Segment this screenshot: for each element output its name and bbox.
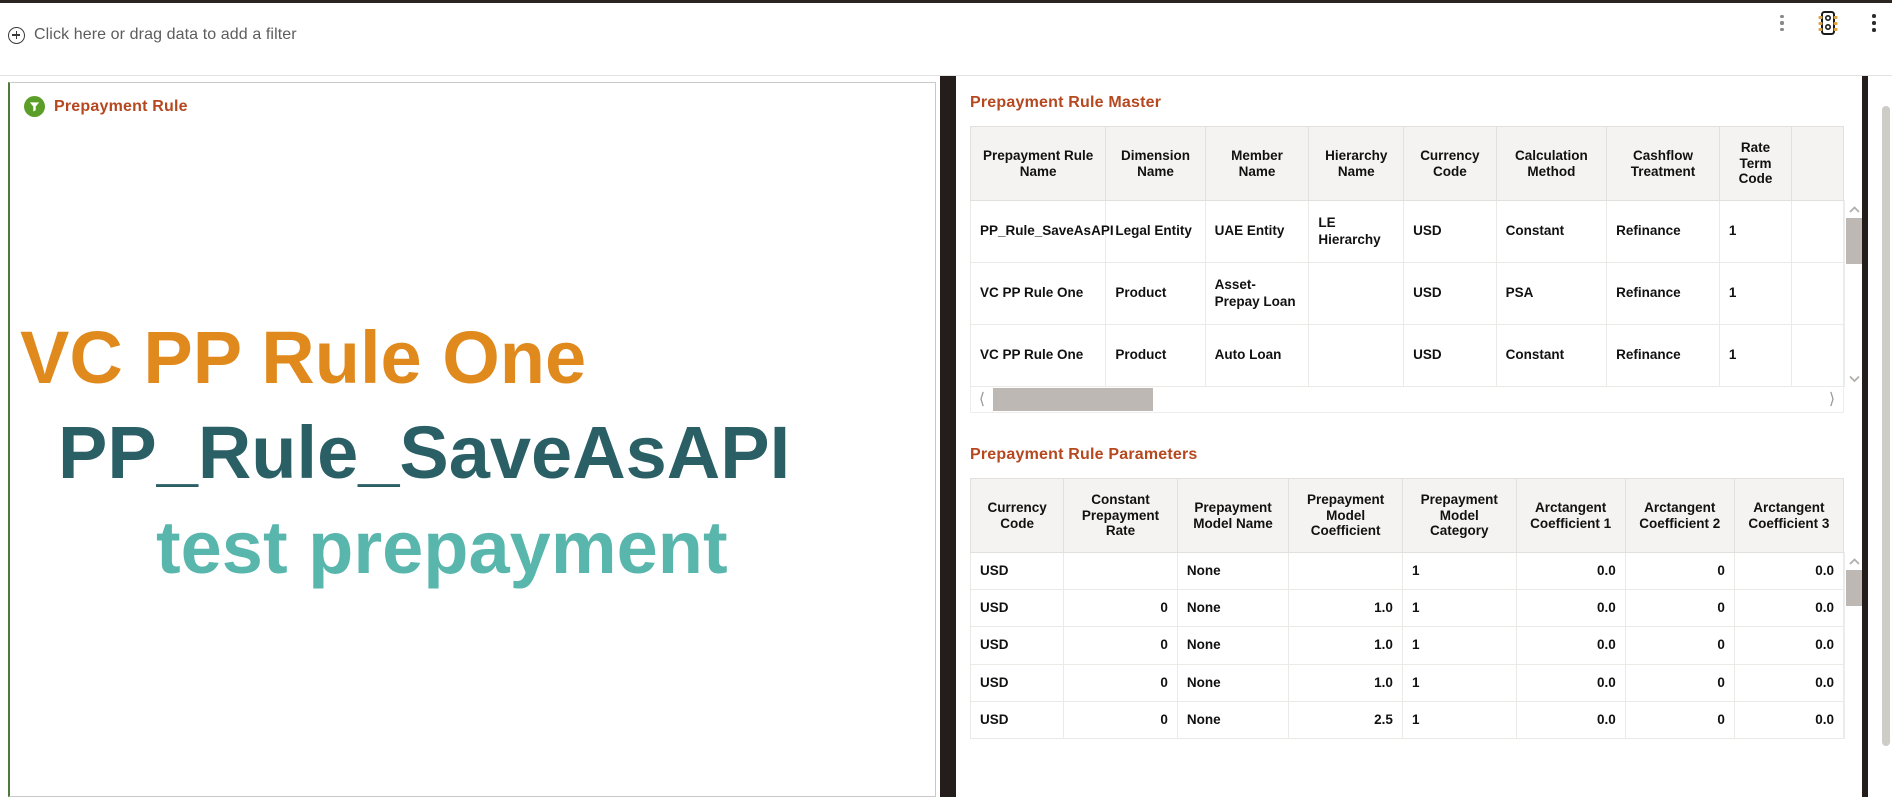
prepayment-rule-parameters-grid[interactable]: Currency Code Constant Prepayment Rate P… — [970, 478, 1844, 739]
cell-prepayment-model-coefficient: 2.5 — [1289, 701, 1403, 738]
cell-hierarchy-name — [1309, 263, 1404, 325]
params-vertical-scrollbar[interactable] — [1844, 552, 1862, 739]
table-row[interactable]: USD 0 None 1.0 1 0.0 0 0.0 — [971, 590, 1844, 627]
cell-prepayment-rule-name: VC PP Rule One — [971, 263, 1106, 325]
column-header-calculation-method[interactable]: Calculation Method — [1496, 127, 1607, 201]
scroll-thumb[interactable] — [1846, 570, 1862, 606]
table-header-row: Currency Code Constant Prepayment Rate P… — [971, 479, 1844, 553]
cell-dimension-name: Legal Entity — [1106, 201, 1205, 263]
page-scrollbar[interactable] — [1880, 76, 1892, 797]
cell-member-name: UAE Entity — [1205, 201, 1309, 263]
cell-constant-prepayment-rate: 0 — [1064, 627, 1178, 664]
cell-prepayment-model-category: 1 — [1402, 627, 1516, 664]
master-vertical-scrollbar[interactable] — [1844, 200, 1862, 387]
cell-prepayment-model-category: 1 — [1402, 664, 1516, 701]
cell-dimension-name: Product — [1106, 325, 1205, 387]
cell-rate-term-code: 1 — [1719, 201, 1791, 263]
column-header-spacer — [1792, 127, 1844, 201]
page-options-icon[interactable] — [1866, 12, 1882, 34]
cell-currency-code: USD — [971, 553, 1064, 590]
cell-arctangent-coefficient-2: 0 — [1625, 664, 1734, 701]
cell-calculation-method: Constant — [1496, 325, 1607, 387]
cell-cashflow-treatment: Refinance — [1607, 263, 1720, 325]
top-rule — [0, 0, 1892, 3]
scroll-left-icon[interactable]: ⟨ — [971, 392, 993, 408]
cell-prepayment-model-coefficient — [1289, 553, 1403, 590]
column-header-currency-code[interactable]: Currency Code — [1404, 127, 1496, 201]
cell-rate-term-code: 1 — [1719, 263, 1791, 325]
cell-prepayment-model-name: None — [1177, 590, 1288, 627]
scroll-up-icon[interactable] — [1845, 554, 1862, 568]
table-row[interactable]: USD 0 None 1.0 1 0.0 0 0.0 — [971, 627, 1844, 664]
cell-rate-term-code: 1 — [1719, 325, 1791, 387]
cell-arctangent-coefficient-2: 0 — [1625, 553, 1734, 590]
cell-prepayment-model-coefficient: 1.0 — [1289, 627, 1403, 664]
scroll-right-icon[interactable]: ⟩ — [1821, 392, 1843, 408]
table-row[interactable]: VC PP Rule One Product Asset-Prepay Loan… — [971, 263, 1844, 325]
plus-circle-icon[interactable] — [8, 27, 25, 44]
table-row[interactable]: USD None 1 0.0 0 0.0 — [971, 553, 1844, 590]
wordcloud-title: Prepayment Rule — [54, 98, 188, 116]
funnel-icon[interactable] — [24, 96, 45, 117]
cell-currency-code: USD — [1404, 325, 1496, 387]
dashboard-page: Click here or drag data to add a filter — [0, 0, 1892, 797]
table-header-row: Prepayment Rule Name Dimension Name Memb… — [971, 127, 1844, 201]
cell-arctangent-coefficient-1: 0.0 — [1516, 590, 1625, 627]
cell-arctangent-coefficient-3: 0.0 — [1734, 701, 1843, 738]
cell-prepayment-model-category: 1 — [1402, 701, 1516, 738]
scroll-down-icon[interactable] — [1845, 371, 1862, 385]
cell-calculation-method: PSA — [1496, 263, 1607, 325]
column-header-dimension-name[interactable]: Dimension Name — [1106, 127, 1205, 201]
cell-arctangent-coefficient-2: 0 — [1625, 627, 1734, 664]
scroll-thumb[interactable] — [1882, 106, 1890, 746]
prepayment-rule-master-title: Prepayment Rule Master — [956, 82, 1862, 126]
scroll-thumb[interactable] — [993, 388, 1153, 411]
cell-constant-prepayment-rate — [1064, 553, 1178, 590]
cell-spacer — [1792, 325, 1844, 387]
cell-arctangent-coefficient-3: 0.0 — [1734, 553, 1843, 590]
cell-calculation-method: Constant — [1496, 201, 1607, 263]
prepayment-rule-master-grid[interactable]: Prepayment Rule Name Dimension Name Memb… — [970, 126, 1844, 387]
cell-arctangent-coefficient-3: 0.0 — [1734, 627, 1843, 664]
column-header-prepayment-rule-name[interactable]: Prepayment Rule Name — [971, 127, 1106, 201]
column-header-prepayment-model-coefficient[interactable]: Prepayment Model Coefficient — [1289, 479, 1403, 553]
cell-hierarchy-name: LE Hierarchy — [1309, 201, 1404, 263]
cell-cashflow-treatment: Refinance — [1607, 201, 1720, 263]
column-header-member-name[interactable]: Member Name — [1205, 127, 1309, 201]
cell-currency-code: USD — [1404, 201, 1496, 263]
word-cloud-term[interactable]: PP_Rule_SaveAsAPI — [58, 416, 790, 490]
dashboard-content: Prepayment Rule VC PP Rule One PP_Rule_S… — [0, 76, 1892, 797]
prepayment-rule-parameters-card: Prepayment Rule Parameters Currency Code… — [956, 434, 1862, 797]
cell-currency-code: USD — [1404, 263, 1496, 325]
cell-prepayment-model-name: None — [1177, 627, 1288, 664]
cell-currency-code: USD — [971, 590, 1064, 627]
cell-arctangent-coefficient-1: 0.0 — [1516, 553, 1625, 590]
cell-prepayment-model-category: 1 — [1402, 590, 1516, 627]
cell-currency-code: USD — [971, 664, 1064, 701]
scroll-up-icon[interactable] — [1845, 202, 1862, 216]
more-options-icon[interactable] — [1774, 12, 1790, 34]
right-column: Prepayment Rule Master Prepayment Rule N… — [956, 76, 1862, 797]
scroll-thumb[interactable] — [1846, 218, 1862, 264]
column-header-arctangent-coefficient-2[interactable]: Arctangent Coefficient 2 — [1625, 479, 1734, 553]
cell-arctangent-coefficient-1: 0.0 — [1516, 701, 1625, 738]
column-header-arctangent-coefficient-3[interactable]: Arctangent Coefficient 3 — [1734, 479, 1843, 553]
cell-prepayment-rule-name: PP_Rule_SaveAsAPI — [971, 201, 1106, 263]
word-cloud-term[interactable]: VC PP Rule One — [20, 321, 586, 395]
cell-constant-prepayment-rate: 0 — [1064, 664, 1178, 701]
filter-placeholder-label: Click here or drag data to add a filter — [34, 26, 297, 44]
word-cloud[interactable]: VC PP Rule One PP_Rule_SaveAsAPI test pr… — [10, 129, 936, 796]
column-header-rate-term-code[interactable]: Rate Term Code — [1719, 127, 1791, 201]
cell-prepayment-model-coefficient: 1.0 — [1289, 664, 1403, 701]
master-horizontal-scrollbar[interactable]: ⟨ ⟩ — [970, 387, 1844, 413]
cell-spacer — [1792, 263, 1844, 325]
cell-prepayment-rule-name: VC PP Rule One — [971, 325, 1106, 387]
table-row[interactable]: VC PP Rule One Product Auto Loan USD Con… — [971, 325, 1844, 387]
cell-prepayment-model-name: None — [1177, 664, 1288, 701]
cell-member-name: Auto Loan — [1205, 325, 1309, 387]
column-header-cashflow-treatment[interactable]: Cashflow Treatment — [1607, 127, 1720, 201]
table-row[interactable]: USD 0 None 1.0 1 0.0 0 0.0 — [971, 664, 1844, 701]
cell-arctangent-coefficient-2: 0 — [1625, 590, 1734, 627]
cell-cashflow-treatment: Refinance — [1607, 325, 1720, 387]
cell-constant-prepayment-rate: 0 — [1064, 701, 1178, 738]
column-header-constant-prepayment-rate[interactable]: Constant Prepayment Rate — [1064, 479, 1178, 553]
cell-dimension-name: Product — [1106, 263, 1205, 325]
cell-member-name: Asset-Prepay Loan — [1205, 263, 1309, 325]
cell-prepayment-model-name: None — [1177, 701, 1288, 738]
column-header-prepayment-model-category[interactable]: Prepayment Model Category — [1402, 479, 1516, 553]
cell-currency-code: USD — [971, 627, 1064, 664]
wordcloud-header: Prepayment Rule — [24, 96, 188, 117]
cell-arctangent-coefficient-2: 0 — [1625, 701, 1734, 738]
column-header-currency-code[interactable]: Currency Code — [971, 479, 1064, 553]
column-header-arctangent-coefficient-1[interactable]: Arctangent Coefficient 1 — [1516, 479, 1625, 553]
traffic-light-icon[interactable] — [1816, 10, 1840, 36]
prepayment-rule-parameters-title: Prepayment Rule Parameters — [956, 434, 1862, 478]
prepayment-rule-wordcloud-panel[interactable]: Prepayment Rule VC PP Rule One PP_Rule_S… — [8, 82, 936, 797]
cell-prepayment-model-name: None — [1177, 553, 1288, 590]
scroll-track[interactable] — [993, 388, 1821, 411]
cell-currency-code: USD — [971, 701, 1064, 738]
table-row[interactable]: USD 0 None 2.5 1 0.0 0 0.0 — [971, 701, 1844, 738]
cell-spacer — [1792, 201, 1844, 263]
top-bar: Click here or drag data to add a filter — [0, 0, 1892, 76]
cell-arctangent-coefficient-1: 0.0 — [1516, 664, 1625, 701]
cell-arctangent-coefficient-3: 0.0 — [1734, 590, 1843, 627]
filter-drop-zone[interactable]: Click here or drag data to add a filter — [8, 26, 297, 44]
column-header-hierarchy-name[interactable]: Hierarchy Name — [1309, 127, 1404, 201]
word-cloud-term[interactable]: test prepayment — [156, 511, 728, 585]
cell-prepayment-model-coefficient: 1.0 — [1289, 590, 1403, 627]
column-header-prepayment-model-name[interactable]: Prepayment Model Name — [1177, 479, 1288, 553]
cell-prepayment-model-category: 1 — [1402, 553, 1516, 590]
cell-arctangent-coefficient-3: 0.0 — [1734, 664, 1843, 701]
cell-hierarchy-name — [1309, 325, 1404, 387]
topbar-actions — [1774, 10, 1882, 36]
cell-constant-prepayment-rate: 0 — [1064, 590, 1178, 627]
cell-arctangent-coefficient-1: 0.0 — [1516, 627, 1625, 664]
prepayment-rule-master-card: Prepayment Rule Master Prepayment Rule N… — [956, 82, 1862, 426]
table-row[interactable]: PP_Rule_SaveAsAPI Legal Entity UAE Entit… — [971, 201, 1844, 263]
